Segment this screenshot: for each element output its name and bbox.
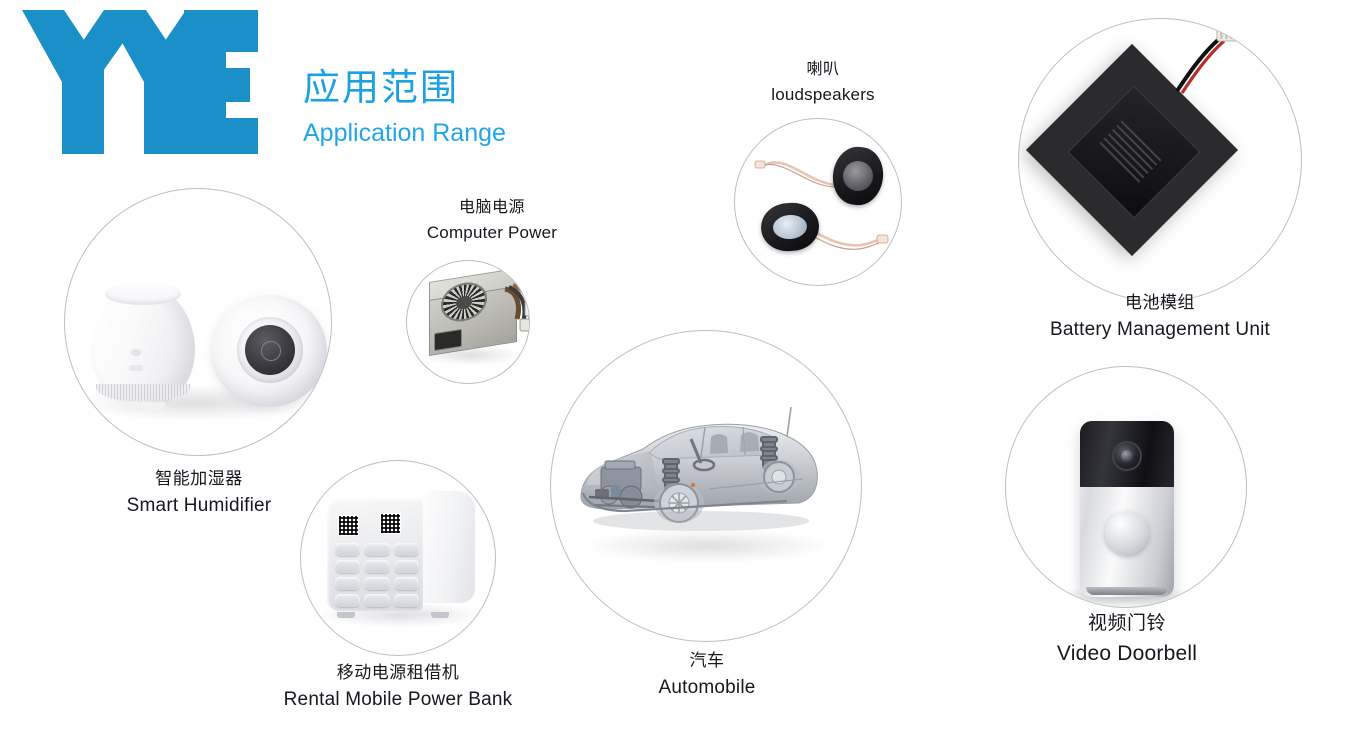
page-title: 应用范围 Application Range — [303, 66, 506, 149]
humidifier-vent-dot — [129, 365, 143, 371]
cabinet-foot — [337, 612, 355, 618]
loudspeakers-label-cn: 喇叭 — [718, 58, 928, 82]
rental-mobile-power-bank-label-en: Rental Mobile Power Bank — [190, 685, 606, 714]
cabinet-slot — [364, 577, 389, 590]
power-bank-cabinet-icon — [327, 491, 475, 613]
humidifier-logo-dot — [131, 349, 141, 356]
cabinet-slot — [394, 560, 419, 573]
battery-management-unit-circle — [1018, 18, 1302, 302]
computer-power-label-cn: 电脑电源 — [382, 196, 602, 220]
yye-logo — [18, 8, 258, 156]
qr-code-icon — [338, 515, 359, 536]
battery-management-unit-caption: 电池模组 Battery Management Unit — [1008, 290, 1312, 344]
battery-wire-icon — [1169, 29, 1245, 99]
qr-code-icon — [380, 513, 401, 534]
item-video-doorbell[interactable]: 视频门铃 Video Doorbell — [1005, 366, 1295, 686]
speaker-cone — [841, 159, 875, 193]
speaker-wires-icon — [735, 119, 902, 286]
rental-mobile-power-bank-label-cn: 移动电源租借机 — [190, 660, 606, 685]
computer-power-circle — [406, 260, 530, 384]
battery-management-unit-label-en: Battery Management Unit — [1008, 315, 1312, 344]
cabinet-slot — [335, 560, 360, 573]
psu-cable-icon — [503, 279, 530, 337]
item-loudspeakers[interactable]: 喇叭 loudspeakers — [728, 58, 928, 290]
cabinet-side-panel — [417, 491, 475, 603]
cabinet-slot — [364, 560, 389, 573]
humidifier-disc-icon — [211, 295, 327, 407]
speaker-cone — [772, 214, 808, 240]
cabinet-slot — [335, 594, 360, 607]
cabinet-slot — [335, 577, 360, 590]
humidifier-jar-icon — [91, 287, 195, 409]
page-title-cn: 应用范围 — [303, 66, 506, 110]
doorbell-button — [1105, 511, 1149, 555]
video-doorbell-device-icon — [1080, 421, 1174, 597]
page-title-en: Application Range — [303, 117, 506, 149]
smart-humidifier-circle — [64, 188, 332, 456]
item-rental-mobile-power-bank[interactable]: 移动电源租借机 Rental Mobile Power Bank — [300, 460, 600, 730]
cabinet-foot — [431, 612, 449, 618]
video-doorbell-caption: 视频门铃 Video Doorbell — [987, 610, 1267, 669]
video-doorbell-label-en: Video Doorbell — [987, 638, 1267, 669]
rental-mobile-power-bank-circle — [300, 460, 496, 656]
loudspeakers-label-en: loudspeakers — [718, 82, 928, 108]
cabinet-slot — [394, 594, 419, 607]
video-doorbell-circle — [1005, 366, 1247, 608]
application-range-slide: 应用范围 Application Range 智能加湿器 Smart Humid… — [0, 0, 1352, 734]
cabinet-slot — [364, 594, 389, 607]
rental-mobile-power-bank-caption: 移动电源租借机 Rental Mobile Power Bank — [190, 660, 606, 714]
item-battery-management-unit[interactable]: 电池模组 Battery Management Unit — [1018, 18, 1308, 338]
loudspeakers-caption: 喇叭 loudspeakers — [718, 58, 928, 108]
humidifier-power-icon — [261, 341, 281, 361]
humidifier-foot — [121, 402, 165, 411]
cabinet-slot — [394, 543, 419, 556]
cabinet-front-panel — [327, 499, 423, 611]
humidifier-jar-top — [105, 283, 181, 305]
automobile-label-en: Automobile — [572, 673, 842, 702]
battery-management-unit-label-cn: 电池模组 — [1008, 290, 1312, 315]
video-doorbell-label-cn: 视频门铃 — [987, 610, 1267, 638]
cabinet-slot — [394, 577, 419, 590]
cabinet-slot-grid — [335, 543, 419, 607]
automobile-caption: 汽车 Automobile — [572, 648, 842, 702]
cabinet-slot — [364, 543, 389, 556]
doorbell-camera-panel — [1080, 421, 1174, 487]
camera-lens-icon — [1114, 443, 1140, 469]
computer-power-caption: 电脑电源 Computer Power — [382, 196, 602, 246]
automobile-cutaway-icon — [573, 393, 825, 541]
cabinet-slot — [335, 543, 360, 556]
loudspeakers-circle — [734, 118, 902, 286]
doorbell-base — [1086, 587, 1168, 595]
computer-power-label-en: Computer Power — [382, 220, 602, 246]
automobile-label-cn: 汽车 — [572, 648, 842, 673]
